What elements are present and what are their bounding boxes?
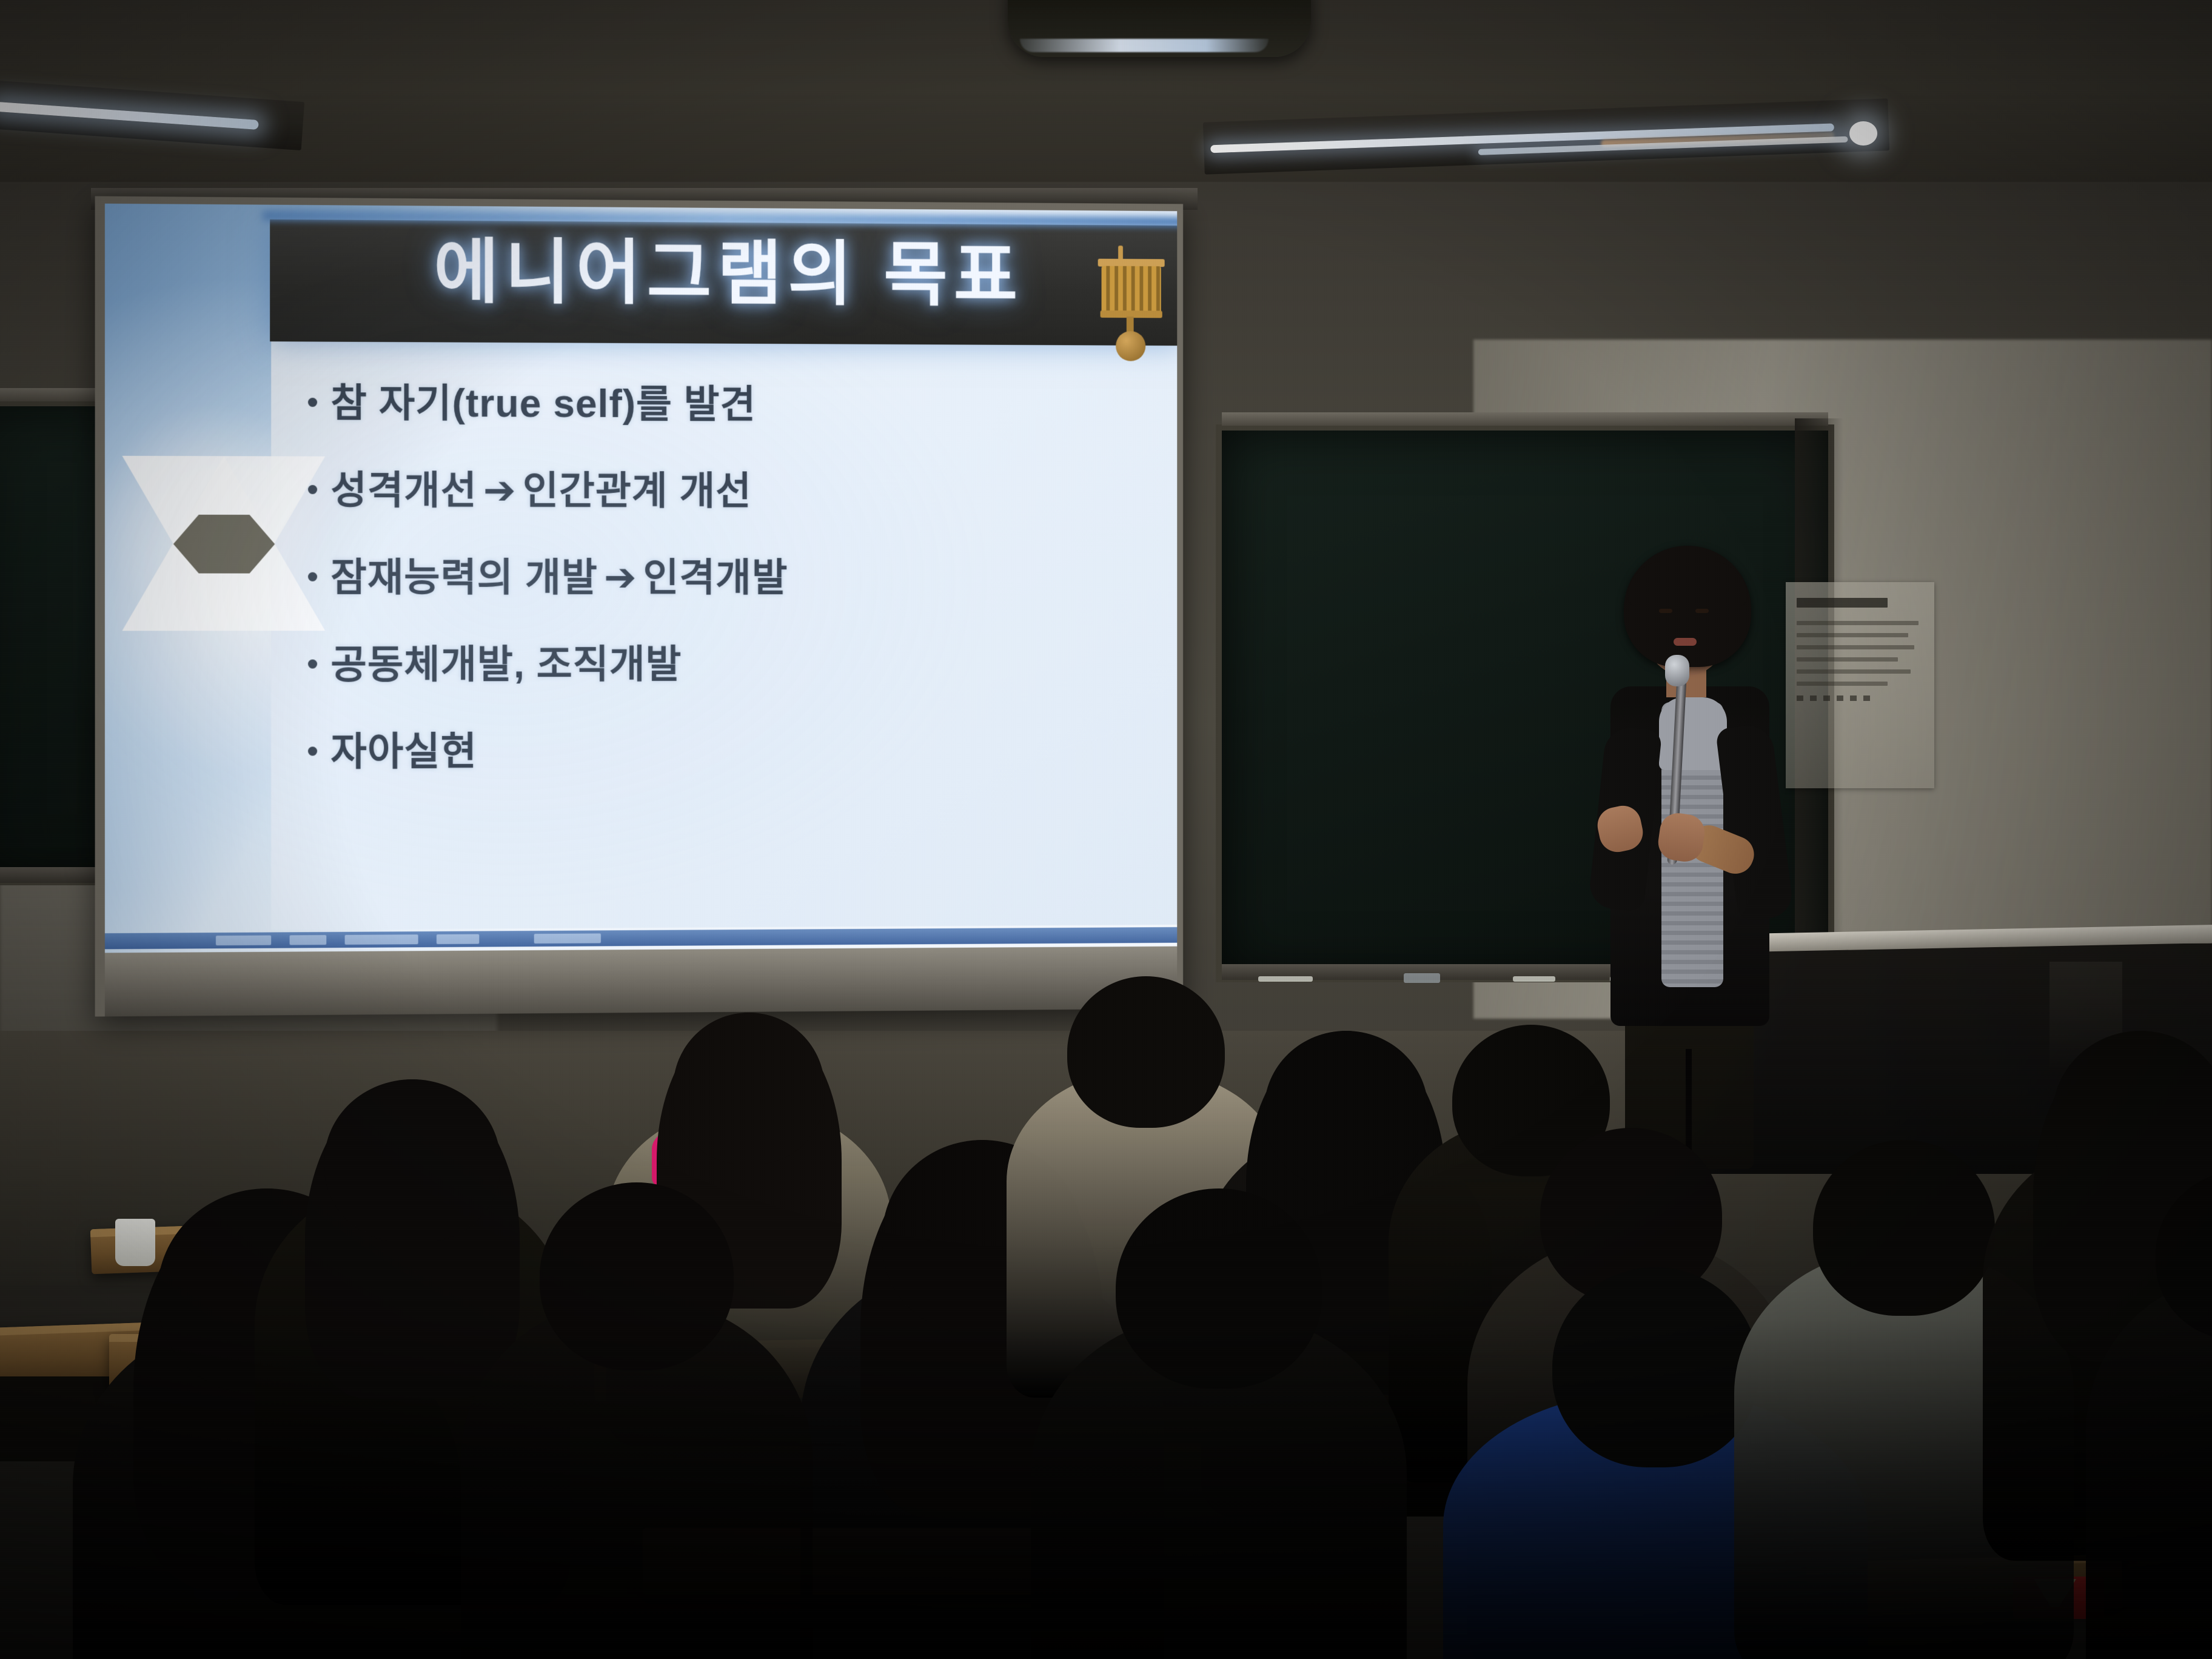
list-item: 자아실현 xyxy=(308,729,1141,774)
notice-heading-bar xyxy=(1797,598,1888,608)
notice-footer-dots xyxy=(1797,695,1875,701)
projection-screen-frame: 에니어그램의 목표 참 자기(true self)를 발견 성격개선 ➔ 인간관… xyxy=(95,196,1183,1016)
projector-lens xyxy=(1020,39,1269,52)
audience-head xyxy=(1813,1140,1995,1316)
bullet-text-after: 인격개발 xyxy=(643,557,788,598)
gold-lamp-ornament-icon xyxy=(1098,246,1167,360)
audience-torso xyxy=(2086,1276,2212,1659)
chalkboard-top-rail xyxy=(1222,412,1828,426)
bullet-dot xyxy=(308,572,317,581)
list-item: 잠재능력의 개발 ➔ 인격개발 xyxy=(308,557,1141,599)
lecture-hall-scene: 에니어그램의 목표 참 자기(true self)를 발견 성격개선 ➔ 인간관… xyxy=(0,0,2212,1659)
bullet-dot xyxy=(308,660,317,669)
microphone-head-icon xyxy=(1665,655,1689,686)
wall-notice xyxy=(1786,582,1934,788)
presenter-fringe xyxy=(1627,561,1748,606)
chalkboard-eraser xyxy=(1404,973,1440,983)
list-item: 참 자기(true self)를 발견 xyxy=(308,382,1141,427)
list-item: 공동체개발, 조직개발 xyxy=(308,643,1141,686)
student-far-right xyxy=(2086,1170,2212,1659)
bullet-dot xyxy=(308,485,317,494)
presenter-inner-top-upper xyxy=(1659,697,1727,770)
bullet-text: 공동체개발, 조직개발 xyxy=(330,643,682,686)
presenter-eye xyxy=(1695,609,1709,613)
bullet-text-before: 성격개선 xyxy=(330,469,477,512)
audience-head xyxy=(1552,1267,1758,1467)
list-item: 성격개선 ➔ 인간관계 개선 xyxy=(308,469,1141,513)
presenter-eye xyxy=(1659,609,1672,613)
bullet-dot xyxy=(308,398,317,407)
projected-slide: 에니어그램의 목표 참 자기(true self)를 발견 성격개선 ➔ 인간관… xyxy=(105,204,1177,956)
chalk-stick xyxy=(1513,976,1555,982)
slide-title: 에니어그램의 목표 xyxy=(270,235,1177,311)
student-center-front xyxy=(1031,1188,1407,1659)
slide-title-band: 에니어그램의 목표 xyxy=(270,220,1177,346)
arrow-icon: ➔ xyxy=(477,469,523,511)
presenter-mouth xyxy=(1674,638,1697,646)
bullet-dot xyxy=(308,747,317,756)
bullet-text: 자아실현 xyxy=(330,731,477,773)
bullet-text-after: 인간관계 개선 xyxy=(523,470,752,512)
bullet-text-before: 잠재능력의 개발 xyxy=(330,557,598,599)
audience-head xyxy=(1116,1188,1322,1389)
student-back-left xyxy=(461,1182,813,1659)
arrow-icon: ➔ xyxy=(598,557,643,598)
slide-bullet-list: 참 자기(true self)를 발견 성격개선 ➔ 인간관계 개선 잠재능력의… xyxy=(308,382,1141,819)
ceiling-light-highlight xyxy=(1849,121,1877,146)
bullet-text: 참 자기(true self)를 발견 xyxy=(330,382,756,426)
ceiling-projector xyxy=(1008,0,1311,57)
audience-head xyxy=(540,1182,734,1370)
star-of-david-hexagram-icon xyxy=(122,443,325,645)
